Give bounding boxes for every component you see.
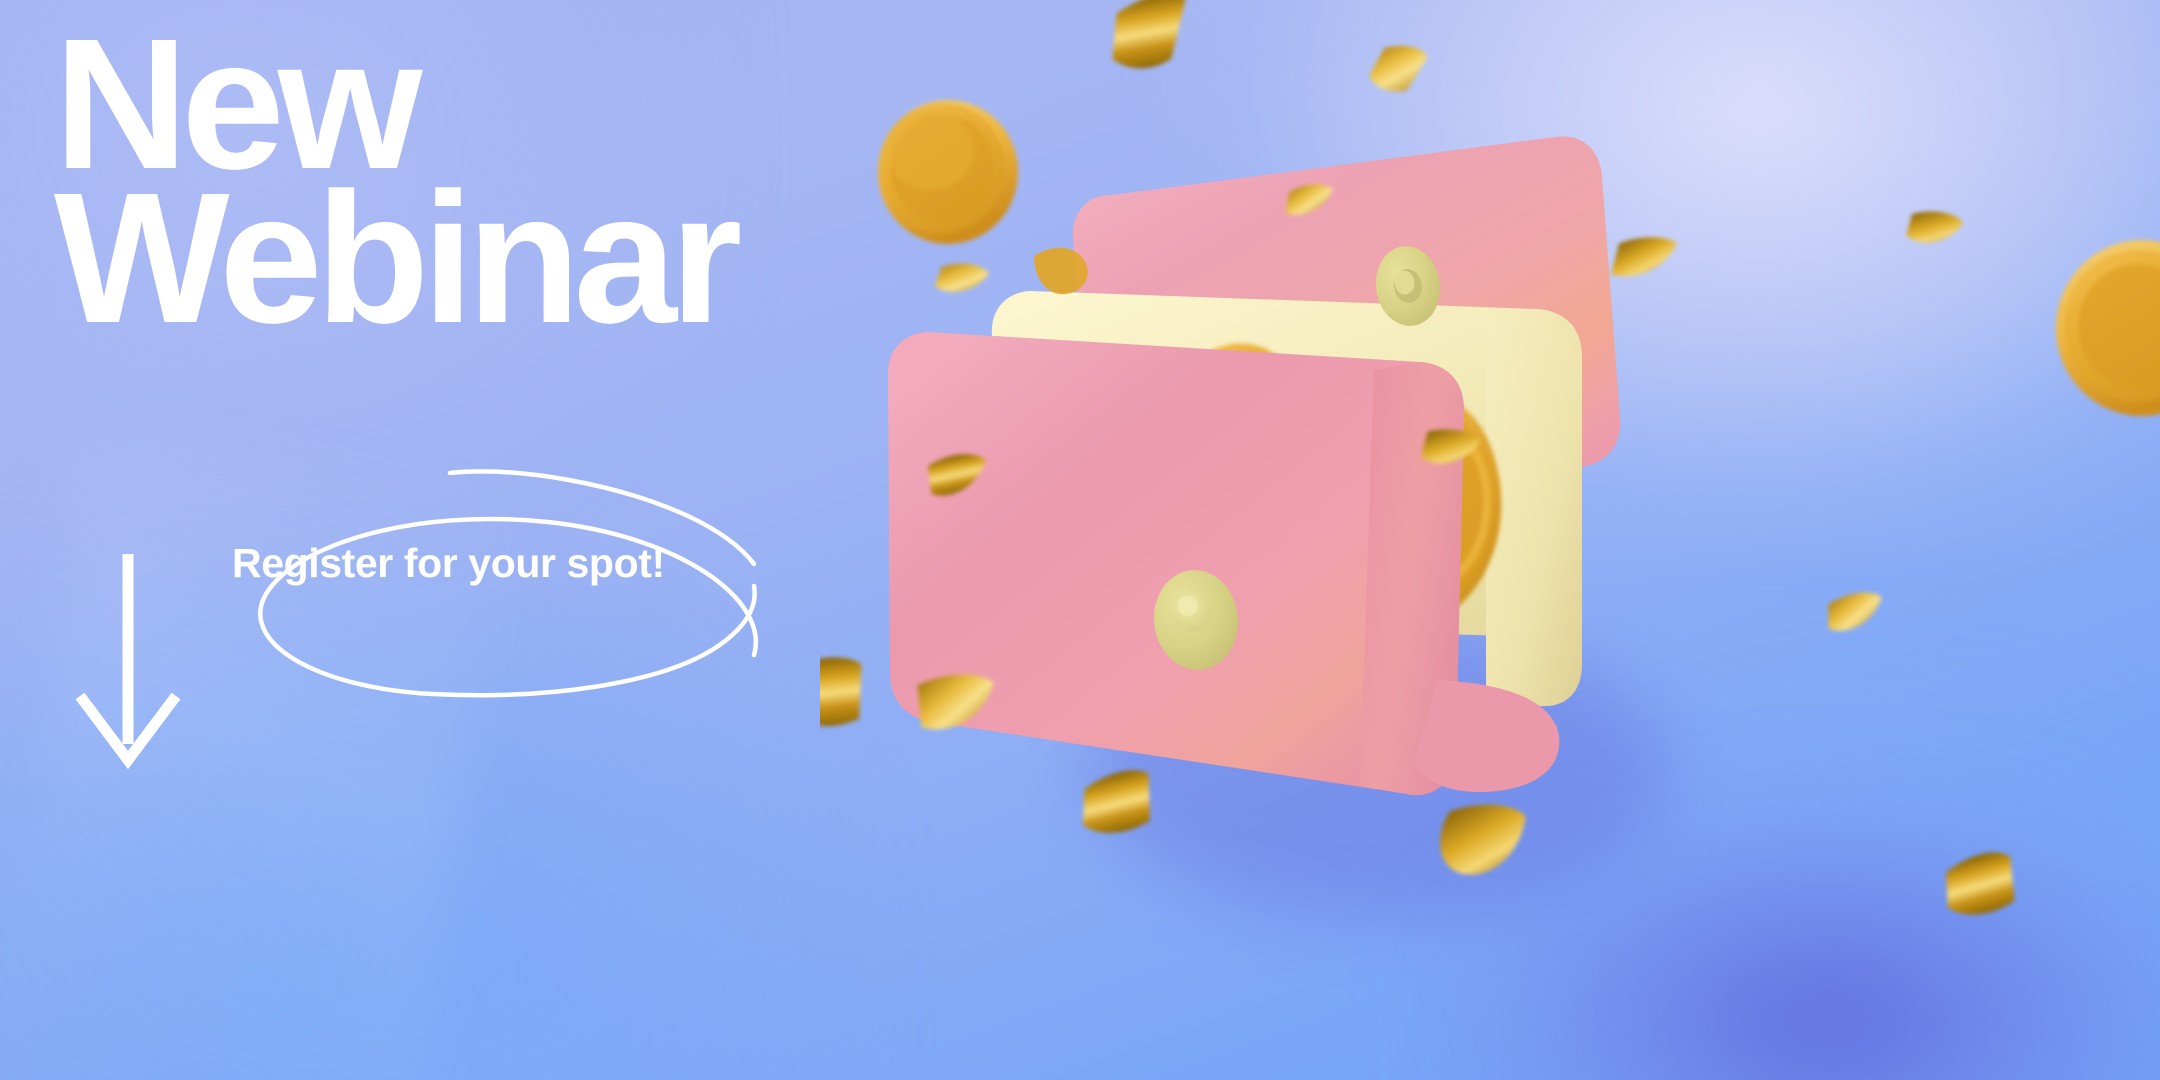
webinar-promo-banner: New Webinar Register for your spot!: [0, 0, 2160, 1080]
confetti-piece: [1367, 39, 1429, 98]
confetti-piece: [1103, 0, 1198, 74]
confetti-piece: [1936, 846, 2023, 923]
coin-edge-right: [2056, 240, 2160, 416]
wallet-illustration-svg: [820, 0, 2160, 1080]
headline-line-2: Webinar: [54, 182, 735, 336]
confetti-piece: [1609, 235, 1679, 277]
confetti-piece: [934, 260, 990, 297]
confetti-piece: [820, 654, 868, 730]
confetti-piece: [1823, 589, 1886, 633]
coin-floating-left: [878, 100, 1018, 244]
down-arrow-icon: [66, 548, 206, 778]
confetti-piece: [1906, 207, 1965, 249]
cta-label[interactable]: Register for your spot!: [232, 540, 665, 587]
page-title: New Webinar: [54, 28, 735, 337]
wallet: [888, 136, 1620, 795]
scroll-down-arrow[interactable]: [66, 548, 206, 778]
wallet-illustration: [820, 0, 2160, 1080]
